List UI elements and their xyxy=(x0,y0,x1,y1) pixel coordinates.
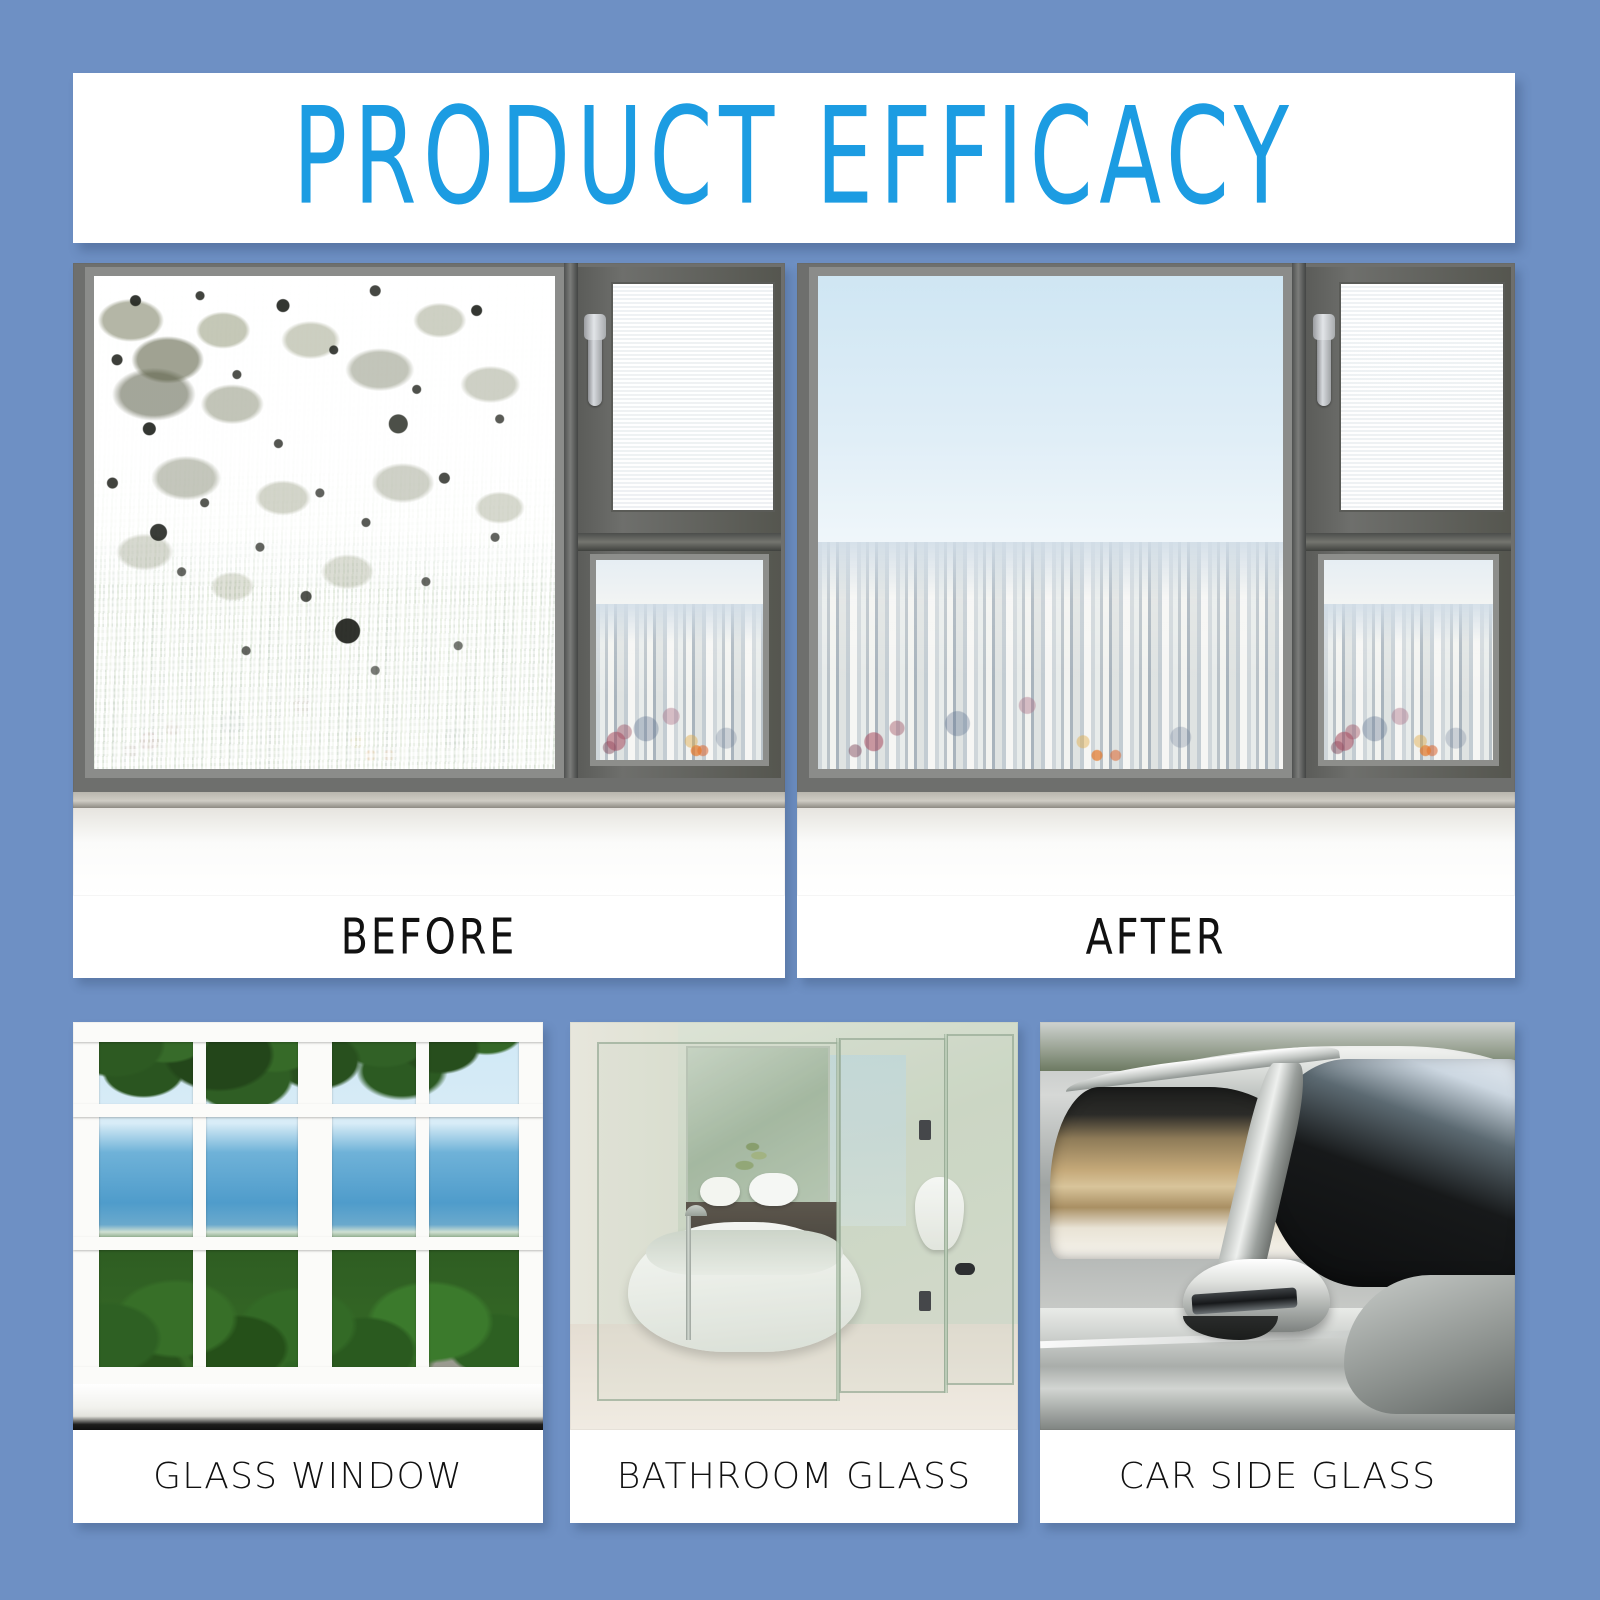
frosted-glass-panel xyxy=(1339,282,1505,512)
before-caption: BEFORE xyxy=(73,896,785,978)
page-title: PRODUCT EFFICACY xyxy=(293,91,1296,225)
vertical-mullion xyxy=(564,263,578,778)
glass-partition-far xyxy=(946,1034,1013,1385)
window-sill xyxy=(73,1384,543,1430)
glass-window-label: GLASS WINDOW xyxy=(153,1456,463,1497)
window-handle-icon xyxy=(1317,328,1331,406)
window-handle-icon xyxy=(588,328,602,406)
car-scene xyxy=(1040,1022,1515,1430)
glass-door-edge xyxy=(944,1034,948,1393)
window-muntin-grid xyxy=(73,1022,543,1430)
glass-hinge-top xyxy=(919,1120,931,1140)
window-frame xyxy=(797,263,1515,792)
car-side-glass-label: CAR SIDE GLASS xyxy=(1119,1456,1437,1497)
glass-hinge-bottom xyxy=(919,1291,931,1311)
horizontal-mullion xyxy=(578,533,781,551)
glass-window-caption: GLASS WINDOW xyxy=(73,1430,543,1523)
glass-window-scene xyxy=(73,1022,543,1430)
car-side-glass-caption: CAR SIDE GLASS xyxy=(1040,1430,1515,1523)
frosted-glass-panel xyxy=(611,282,775,512)
application-card-car-side-glass: CAR SIDE GLASS xyxy=(1040,1022,1515,1523)
glass-window-photo xyxy=(73,1022,543,1430)
application-card-glass-window: GLASS WINDOW xyxy=(73,1022,543,1523)
before-photo xyxy=(73,263,785,896)
vertical-mullion xyxy=(1292,263,1306,778)
clean-glass-pane xyxy=(809,267,1292,778)
interior-wall xyxy=(73,808,785,896)
clean-window-scene xyxy=(797,263,1515,896)
car-side-glass-photo xyxy=(1040,1022,1515,1430)
after-caption: AFTER xyxy=(797,896,1515,978)
sky-band xyxy=(818,276,1283,572)
small-clear-pane xyxy=(590,554,769,766)
glass-partition-left xyxy=(597,1042,839,1401)
window-frame xyxy=(73,263,785,792)
glass-corner-edge xyxy=(836,1038,840,1401)
comparison-card-before: BEFORE xyxy=(73,263,785,978)
after-label: AFTER xyxy=(1086,908,1227,965)
header-banner: PRODUCT EFFICACY xyxy=(73,73,1515,243)
city-color-accents-small xyxy=(1324,604,1493,760)
comparison-card-after: AFTER xyxy=(797,263,1515,978)
city-color-accents xyxy=(818,542,1283,769)
car-hood xyxy=(1344,1275,1515,1414)
interior-wall xyxy=(797,808,1515,896)
bathroom-glass-caption: BATHROOM GLASS xyxy=(570,1430,1018,1523)
window-sill xyxy=(797,792,1515,808)
glass-door-handle-icon xyxy=(955,1263,975,1275)
dirt-specks xyxy=(94,276,555,769)
application-card-bathroom-glass: BATHROOM GLASS xyxy=(570,1022,1018,1523)
before-label: BEFORE xyxy=(341,908,518,965)
glass-partition-right xyxy=(839,1038,947,1393)
window-sill xyxy=(73,792,785,808)
bathroom-glass-photo xyxy=(570,1022,1018,1430)
city-color-accents-small xyxy=(596,604,763,760)
after-photo xyxy=(797,263,1515,896)
small-clear-pane xyxy=(1318,554,1499,766)
dirty-window-scene xyxy=(73,263,785,896)
bathroom-glass-label: BATHROOM GLASS xyxy=(617,1456,972,1497)
horizontal-mullion xyxy=(1306,533,1511,551)
dirty-glass-pane xyxy=(85,267,564,778)
bathroom-scene xyxy=(570,1022,1018,1430)
